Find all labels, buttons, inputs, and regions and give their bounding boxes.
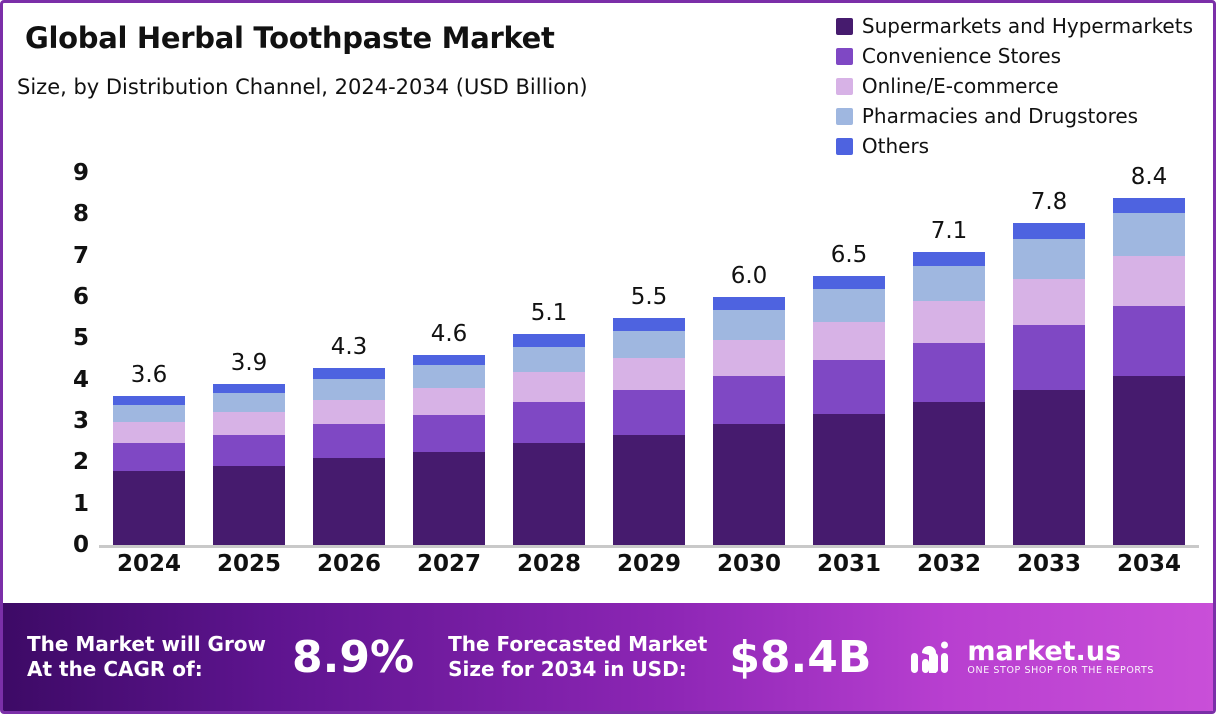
bar-segment (513, 347, 585, 373)
x-axis-tick: 2024 (113, 551, 185, 577)
bar-total-label: 6.0 (713, 263, 785, 289)
legend-swatch-icon (836, 108, 853, 125)
y-axis-tick: 8 (55, 201, 89, 227)
bar-segment (1013, 390, 1085, 545)
bar-segment (1113, 306, 1185, 375)
bar-segment (913, 343, 985, 402)
bar-segment (613, 331, 685, 358)
bar-stack[interactable]: 8.4 (1113, 173, 1185, 545)
bar-segment (1113, 376, 1185, 545)
legend-label: Supermarkets and Hypermarkets (862, 14, 1193, 38)
y-axis-tick: 7 (55, 243, 89, 269)
bar-segment (113, 443, 185, 471)
bar-total-label: 8.4 (1113, 164, 1185, 190)
bar-segment (613, 390, 685, 435)
bar-segment (113, 405, 185, 422)
x-axis-tick: 2025 (213, 551, 285, 577)
chart-page: Global Herbal Toothpaste Market Size, by… (0, 0, 1216, 714)
bar-segment (213, 412, 285, 435)
footer-banner: The Market will Grow At the CAGR of: 8.9… (3, 603, 1213, 711)
x-axis-tick: 2034 (1113, 551, 1185, 577)
bar-segment (513, 443, 585, 546)
y-axis-tick: 5 (55, 325, 89, 351)
y-axis-tick: 6 (55, 284, 89, 310)
bar-total-label: 5.1 (513, 300, 585, 326)
bar-segment (1113, 213, 1185, 256)
bar-segment (213, 466, 285, 545)
bar-segment (113, 396, 185, 404)
legend-label: Pharmacies and Drugstores (862, 104, 1138, 128)
x-axis: 2024202520262027202820292030203120322033… (99, 551, 1199, 577)
bar-segment (713, 340, 785, 376)
cagr-value: 8.9% (292, 632, 414, 683)
bar-segment (1013, 325, 1085, 389)
x-axis-line (99, 545, 1199, 548)
bar-total-label: 5.5 (613, 284, 685, 310)
bar-stack[interactable]: 7.1 (913, 173, 985, 545)
legend-item[interactable]: Convenience Stores (836, 43, 1061, 69)
bar-stack[interactable]: 4.3 (313, 173, 385, 545)
bar-segment (813, 360, 885, 414)
brand-tagline: ONE STOP SHOP FOR THE REPORTS (967, 666, 1154, 676)
bar-segment (713, 310, 785, 340)
bar-segment (313, 424, 385, 458)
x-axis-tick: 2026 (313, 551, 385, 577)
bar-total-label: 7.8 (1013, 189, 1085, 215)
bar-stack[interactable]: 6.0 (713, 173, 785, 545)
legend-swatch-icon (836, 18, 853, 35)
legend-item[interactable]: Others (836, 133, 929, 159)
bar-segment (613, 358, 685, 390)
legend-item[interactable]: Pharmacies and Drugstores (836, 103, 1138, 129)
y-axis: 0123456789 (55, 173, 89, 545)
bar-total-label: 3.6 (113, 362, 185, 388)
bar-segment (1113, 198, 1185, 213)
bar-segment (413, 388, 485, 415)
x-axis-tick: 2030 (713, 551, 785, 577)
bar-group: 3.63.94.34.65.15.56.06.57.17.88.4 (99, 173, 1199, 545)
y-axis-tick: 9 (55, 160, 89, 186)
bar-segment (613, 435, 685, 545)
bar-segment (713, 376, 785, 425)
bar-segment (1013, 223, 1085, 240)
x-axis-tick: 2027 (413, 551, 485, 577)
x-axis-tick: 2033 (1013, 551, 1085, 577)
bar-segment (1013, 279, 1085, 325)
bar-segment (413, 452, 485, 545)
legend-swatch-icon (836, 78, 853, 95)
bar-segment (713, 297, 785, 310)
bar-segment (513, 372, 585, 402)
bar-total-label: 4.3 (313, 334, 385, 360)
bar-segment (413, 415, 485, 452)
bar-segment (813, 276, 885, 288)
x-axis-tick: 2031 (813, 551, 885, 577)
bar-segment (313, 368, 385, 379)
y-axis-tick: 0 (55, 532, 89, 558)
x-axis-tick: 2028 (513, 551, 585, 577)
bar-segment (313, 458, 385, 545)
plot-area: 0123456789 3.63.94.34.65.15.56.06.57.17.… (3, 173, 1216, 593)
bar-stack[interactable]: 3.6 (113, 173, 185, 545)
forecast-value: $8.4B (729, 632, 871, 683)
bar-stack[interactable]: 4.6 (413, 173, 485, 545)
bar-total-label: 7.1 (913, 218, 985, 244)
x-axis-tick: 2032 (913, 551, 985, 577)
brand-text: market.us ONE STOP SHOP FOR THE REPORTS (967, 638, 1154, 676)
bar-segment (413, 355, 485, 365)
legend-swatch-icon (836, 138, 853, 155)
bar-segment (513, 402, 585, 443)
bar-segment (813, 322, 885, 360)
legend-label: Others (862, 134, 929, 158)
bar-segment (913, 252, 985, 266)
market-us-logo-icon (909, 637, 957, 677)
bar-stack[interactable]: 5.1 (513, 173, 585, 545)
legend-label: Online/E-commerce (862, 74, 1059, 98)
y-axis-tick: 2 (55, 449, 89, 475)
bar-stack[interactable]: 6.5 (813, 173, 885, 545)
bar-total-label: 3.9 (213, 350, 285, 376)
y-axis-tick: 4 (55, 367, 89, 393)
x-axis-tick: 2029 (613, 551, 685, 577)
bar-segment (813, 289, 885, 322)
bar-stack[interactable]: 7.8 (1013, 173, 1085, 545)
y-axis-tick: 3 (55, 408, 89, 434)
bar-segment (913, 402, 985, 545)
bar-segment (913, 266, 985, 302)
bar-stack[interactable]: 5.5 (613, 173, 685, 545)
bar-segment (713, 424, 785, 545)
y-axis-tick: 1 (55, 491, 89, 517)
bar-total-label: 6.5 (813, 242, 885, 268)
page-subtitle: Size, by Distribution Channel, 2024-2034… (17, 75, 588, 99)
legend-label: Convenience Stores (862, 44, 1061, 68)
bar-segment (813, 414, 885, 545)
legend-item[interactable]: Online/E-commerce (836, 73, 1059, 99)
bar-segment (113, 471, 185, 545)
brand-logo: market.us ONE STOP SHOP FOR THE REPORTS (909, 637, 1154, 677)
bar-segment (113, 422, 185, 443)
brand-name: market.us (967, 638, 1154, 666)
bar-stack[interactable]: 3.9 (213, 173, 285, 545)
bar-segment (513, 334, 585, 346)
forecast-label: The Forecasted Market Size for 2034 in U… (448, 632, 707, 682)
bar-total-label: 4.6 (413, 321, 485, 347)
legend-swatch-icon (836, 48, 853, 65)
bar-segment (313, 379, 385, 400)
bar-segment (1113, 256, 1185, 306)
bar-segment (313, 400, 385, 425)
bar-segment (1013, 239, 1085, 279)
bar-segment (913, 301, 985, 343)
bar-segment (613, 318, 685, 331)
cagr-label: The Market will Grow At the CAGR of: (27, 632, 266, 682)
legend-item[interactable]: Supermarkets and Hypermarkets (836, 13, 1193, 39)
bar-segment (213, 384, 285, 393)
page-title: Global Herbal Toothpaste Market (25, 21, 555, 55)
bar-segment (413, 365, 485, 388)
chart-legend: Supermarkets and HypermarketsConvenience… (836, 13, 1193, 159)
bar-segment (213, 393, 285, 412)
bar-segment (213, 435, 285, 466)
